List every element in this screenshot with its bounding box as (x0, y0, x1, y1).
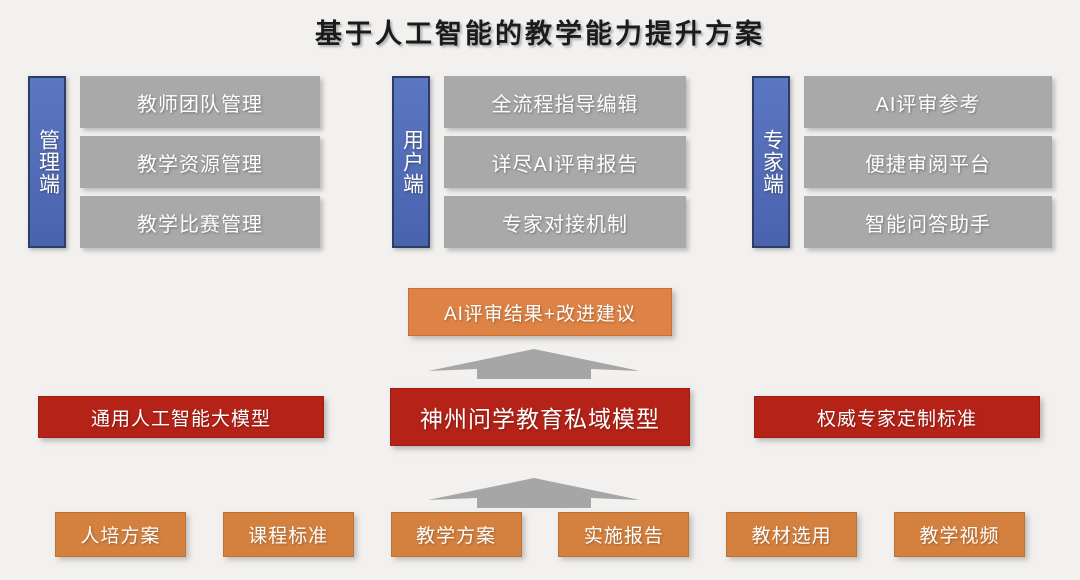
group-user-tab-label: 用户端 (398, 129, 425, 195)
model-general-ai[interactable]: 通用人工智能大模型 (38, 396, 324, 438)
group-expert-tab[interactable]: 专家端 (752, 76, 790, 248)
page-title: 基于人工智能的教学能力提升方案 (0, 12, 1080, 51)
group-expert-item-1[interactable]: AI评审参考 (804, 76, 1052, 128)
group-expert-item-3[interactable]: 智能问答助手 (804, 196, 1052, 248)
source-chip-6[interactable]: 教学视频 (894, 512, 1025, 557)
group-expert-items: AI评审参考 便捷审阅平台 智能问答助手 (804, 76, 1052, 248)
lower-arrow-icon (428, 474, 640, 508)
model-private-domain[interactable]: 神州问学教育私域模型 (390, 388, 690, 446)
source-chip-row: 人培方案 课程标准 教学方案 实施报告 教材选用 教学视频 (55, 512, 1025, 557)
source-chip-2[interactable]: 课程标准 (223, 512, 354, 557)
source-chip-3[interactable]: 教学方案 (391, 512, 522, 557)
group-user-item-1[interactable]: 全流程指导编辑 (444, 76, 686, 128)
group-admin-tab[interactable]: 管理端 (28, 76, 66, 248)
ai-result-banner[interactable]: AI评审结果+改进建议 (408, 288, 672, 336)
group-admin-tab-label: 管理端 (34, 129, 61, 195)
group-user-tab[interactable]: 用户端 (392, 76, 430, 248)
group-user-items: 全流程指导编辑 详尽AI评审报告 专家对接机制 (444, 76, 686, 248)
group-user-item-2[interactable]: 详尽AI评审报告 (444, 136, 686, 188)
group-admin-items: 教师团队管理 教学资源管理 教学比赛管理 (80, 76, 320, 248)
group-user-item-3[interactable]: 专家对接机制 (444, 196, 686, 248)
source-chip-1[interactable]: 人培方案 (55, 512, 186, 557)
group-expert-tab-label: 专家端 (758, 129, 785, 195)
diagram-canvas: 基于人工智能的教学能力提升方案 管理端 教师团队管理 教学资源管理 教学比赛管理… (0, 0, 1080, 580)
model-expert-standard[interactable]: 权威专家定制标准 (754, 396, 1040, 438)
source-chip-4[interactable]: 实施报告 (558, 512, 689, 557)
group-admin-item-2[interactable]: 教学资源管理 (80, 136, 320, 188)
group-admin-item-3[interactable]: 教学比赛管理 (80, 196, 320, 248)
upper-arrow-icon (428, 345, 640, 379)
group-expert-item-2[interactable]: 便捷审阅平台 (804, 136, 1052, 188)
source-chip-5[interactable]: 教材选用 (726, 512, 857, 557)
group-admin-item-1[interactable]: 教师团队管理 (80, 76, 320, 128)
